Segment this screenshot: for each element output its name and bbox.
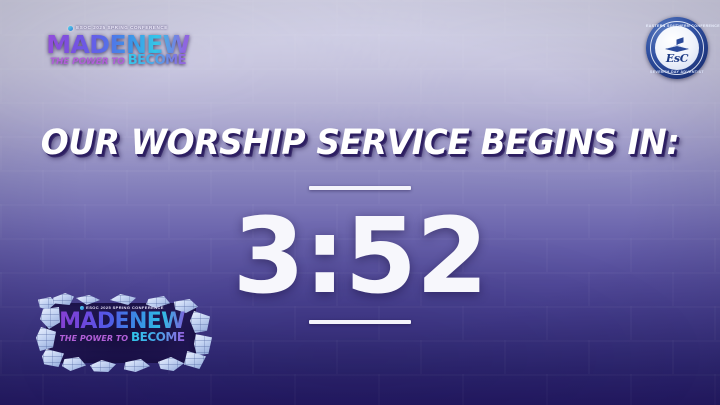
countdown-slide: ESOC 2025 SPRING CONFERENCE MADENEW THE … — [0, 0, 720, 405]
divider-top — [309, 186, 411, 190]
logo-bottom-title-made: MADE — [59, 309, 129, 334]
cracked-wall-icon — [194, 333, 212, 355]
divider-bottom — [309, 320, 411, 324]
logo-bottom-tagline-lead: THE POWER TO — [59, 335, 128, 343]
seal-monogram: EsC — [646, 52, 708, 65]
seal-arc-bottom-text: SEVENTH-DAY ADVENTIST — [646, 70, 708, 74]
brick-joint-row-offset — [42, 374, 720, 405]
logo-tagline-lead: THE POWER TO — [50, 58, 125, 67]
open-bible-icon — [664, 37, 690, 53]
logo-tagline: THE POWER TO BECOME — [40, 54, 196, 67]
conference-logo-bottom-text: ESOC 2025 SPRING CONFERENCE MADENEW THE … — [52, 306, 192, 343]
logo-bottom-tagline-become: BECOME — [131, 331, 185, 343]
page-title: OUR WORSHIP SERVICE BEGINS IN: — [22, 123, 699, 163]
conference-logo-top: ESOC 2025 SPRING CONFERENCE MADENEW THE … — [40, 26, 196, 86]
logo-tagline-become: BECOME — [128, 54, 186, 67]
countdown-timer: 3:52 — [233, 204, 488, 308]
conference-logo-bottom: ESOC 2025 SPRING CONFERENCE MADENEW THE … — [18, 293, 216, 377]
organization-seal: EASTERN SOUTHERN CONFERENCE SEVENTH-DAY … — [646, 17, 708, 79]
